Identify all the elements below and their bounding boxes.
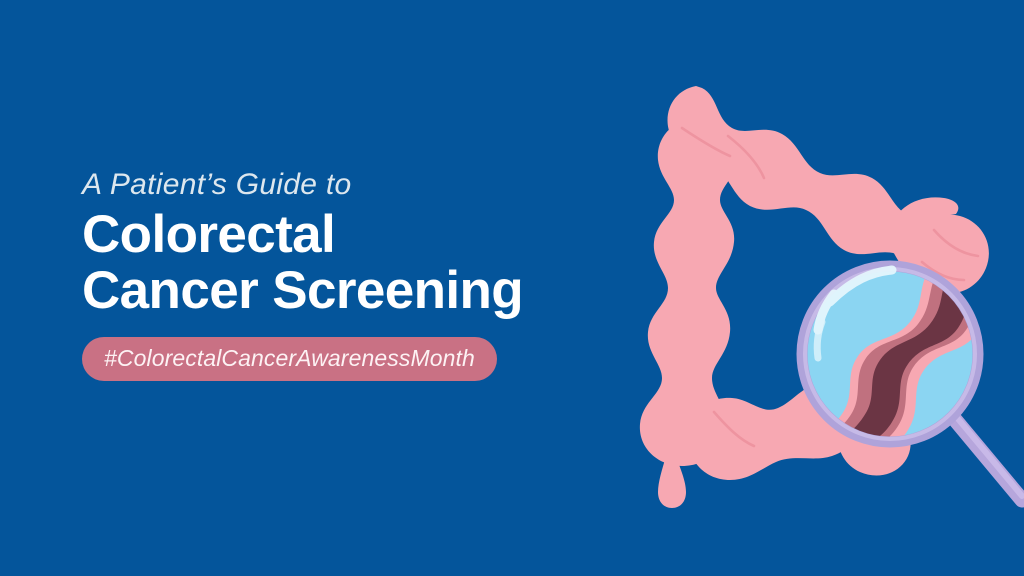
headline-line-1: Colorectal (82, 207, 642, 263)
colon-illustration (604, 0, 1024, 576)
eyebrow-text: A Patient’s Guide to (82, 168, 642, 201)
banner-canvas: A Patient’s Guide to Colorectal Cancer S… (0, 0, 1024, 576)
headline-line-2: Cancer Screening (82, 263, 642, 319)
page-title: Colorectal Cancer Screening (82, 207, 642, 319)
magnifier-handle (952, 414, 1022, 500)
text-block: A Patient’s Guide to Colorectal Cancer S… (82, 168, 642, 381)
hashtag-badge: #ColorectalCancerAwarenessMonth (82, 337, 497, 381)
